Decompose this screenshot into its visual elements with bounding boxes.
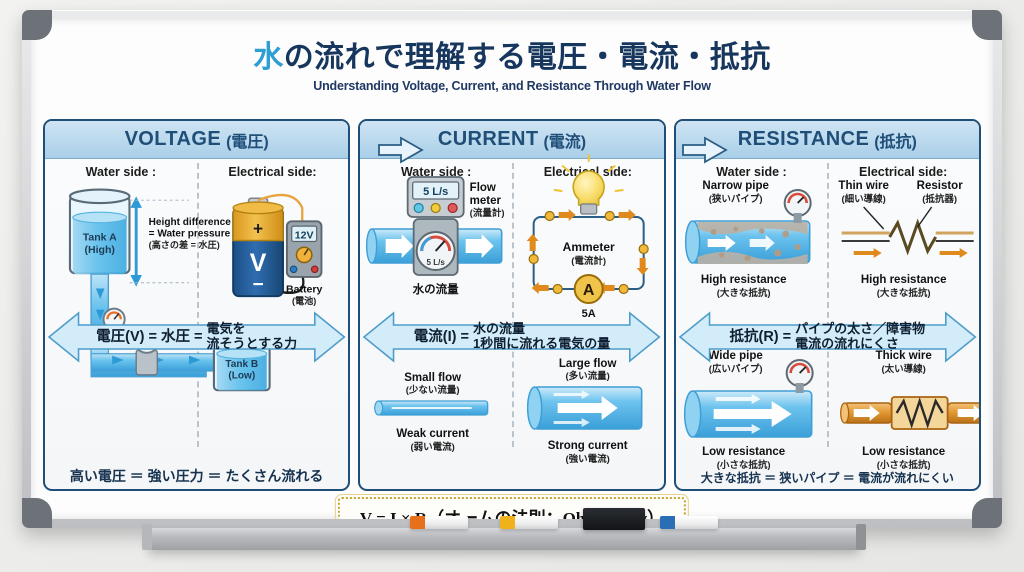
thick-wire-resistor xyxy=(840,397,981,429)
svg-text:meter: meter xyxy=(470,195,502,207)
yellow-marker[interactable] xyxy=(500,516,558,529)
svg-text:(電池): (電池) xyxy=(292,295,316,306)
voltage-eq-line1: 電圧(V) = 水圧 = xyxy=(96,329,202,345)
circuit: Ammeter (電流計) A 5A xyxy=(527,155,649,320)
svg-text:+: + xyxy=(253,219,263,239)
current-equation-text: 電流(I) = 水の流量 1秒間に流れる電気の量 xyxy=(414,322,610,352)
current-eq-line1: 電流(I) = xyxy=(414,329,469,345)
svg-text:Small flow: Small flow xyxy=(405,372,462,384)
svg-text:Ammeter: Ammeter xyxy=(563,240,615,254)
resistance-summary: 大きな抵抗 ＝ 狭いパイプ ＝ 電流が流れにくい xyxy=(676,469,979,486)
svg-text:(高さの差 = 水圧): (高さの差 = 水圧) xyxy=(149,239,220,250)
current-eq-line2a: 水の流量 xyxy=(473,322,610,337)
svg-text:Weak current: Weak current xyxy=(397,428,470,440)
svg-text:(多い流量): (多い流量) xyxy=(566,370,610,382)
frame-corner-bottom-right xyxy=(972,498,1002,528)
svg-text:(大きな抵抗): (大きな抵抗) xyxy=(716,287,770,299)
panel-resistance-title-en: RESISTANCE xyxy=(738,128,869,151)
whiteboard-surface: 水の流れで理解する電圧・電流・抵抗 Understanding Voltage,… xyxy=(31,19,993,519)
svg-text:Flow: Flow xyxy=(470,182,496,194)
page-title-accent: 水 xyxy=(253,41,284,74)
current-equation-band: 電流(I) = 水の流量 1秒間に流れる電気の量 xyxy=(364,309,659,365)
panel-current: CURRENT (電流) Water side : Electrical sid… xyxy=(358,119,665,491)
svg-text:Narrow pipe: Narrow pipe xyxy=(702,180,768,192)
svg-text:(細い導線): (細い導線) xyxy=(841,193,885,205)
svg-text:5 L/s: 5 L/s xyxy=(427,258,446,267)
battery: + V − xyxy=(233,198,283,296)
svg-text:水の流量: 水の流量 xyxy=(413,282,459,296)
svg-text:High resistance: High resistance xyxy=(700,274,786,286)
voltage-eq-line2a: 電気を xyxy=(207,322,298,337)
resistance-equation-text: 抵抗(R) = パイプの太さ／障害物 電流の流れにくさ xyxy=(729,322,925,352)
resistance-equation-band: 抵抗(R) = パイプの太さ／障害物 電流の流れにくさ xyxy=(680,309,975,365)
voltage-summary: 高い電圧 ＝ 強い圧力 ＝ たくさん流れる xyxy=(45,466,348,486)
svg-text:= Water pressure: = Water pressure xyxy=(149,229,231,240)
panel-voltage-header: VOLTAGE (電圧) xyxy=(45,121,348,159)
panel-voltage: VOLTAGE (電圧) Water side : Electrical sid… xyxy=(43,119,350,491)
svg-text:V: V xyxy=(250,249,267,277)
page-subtitle: Understanding Voltage, Current, and Resi… xyxy=(31,79,993,93)
svg-text:(強い電流): (強い電流) xyxy=(566,453,610,465)
svg-text:(少ない流量): (少ない流量) xyxy=(406,384,460,396)
svg-text:Height difference: Height difference xyxy=(149,217,232,228)
resistance-eq-line1: 抵抗(R) = xyxy=(729,329,791,345)
blue-marker[interactable] xyxy=(660,516,718,529)
panel-voltage-body: Water side : Electrical side: xyxy=(45,159,348,489)
svg-text:A: A xyxy=(583,282,595,299)
svg-text:(抵抗器): (抵抗器) xyxy=(922,193,957,205)
frame-corner-top-right xyxy=(972,10,1002,40)
svg-text:(Low): (Low) xyxy=(228,371,255,382)
svg-text:Battery: Battery xyxy=(286,283,322,295)
panel-current-title-en: CURRENT xyxy=(438,128,539,151)
svg-text:Low resistance: Low resistance xyxy=(862,446,945,458)
panel-current-body: Water side : Electrical side: xyxy=(360,159,663,489)
svg-text:5 L/s: 5 L/s xyxy=(423,186,448,198)
flow-arrow-current-to-resistance xyxy=(683,137,727,163)
resistance-eq-line2a: パイプの太さ／障害物 xyxy=(795,322,925,337)
svg-text:Tank A: Tank A xyxy=(83,231,117,243)
voltage-equation-band: 電圧(V) = 水圧 = 電気を 流そうとする力 xyxy=(49,309,344,365)
frame-corner-bottom-left xyxy=(22,498,52,528)
panel-voltage-title-jp: (電圧) xyxy=(226,128,269,152)
current-eq-line2b: 1秒間に流れる電気の量 xyxy=(473,337,610,352)
marker-tray xyxy=(148,528,860,550)
voltage-equation-text: 電圧(V) = 水圧 = 電気を 流そうとする力 xyxy=(96,322,297,352)
svg-text:(High): (High) xyxy=(84,244,114,256)
page-title-rest: の流れで理解する電圧・電流・抵抗 xyxy=(284,41,771,74)
svg-text:(流量計): (流量計) xyxy=(470,207,505,219)
svg-text:Resistor: Resistor xyxy=(916,180,963,192)
flow-arrow-voltage-to-current xyxy=(379,137,423,163)
panel-resistance: RESISTANCE (抵抗) Water side : Electrical … xyxy=(674,119,981,491)
whiteboard-eraser[interactable] xyxy=(583,508,645,530)
page-title: 水の流れで理解する電圧・電流・抵抗 xyxy=(31,41,993,74)
panel-voltage-title-en: VOLTAGE xyxy=(125,128,222,151)
orange-marker-cap xyxy=(410,516,425,529)
panel-resistance-title-jp: (抵抗) xyxy=(874,128,917,152)
svg-text:(弱い電流): (弱い電流) xyxy=(411,441,455,453)
large-flow-pipe xyxy=(528,387,642,429)
svg-text:(狭いパイプ): (狭いパイプ) xyxy=(708,193,762,205)
svg-text:12V: 12V xyxy=(295,230,314,242)
resistance-eq-line2b: 電流の流れにくさ xyxy=(795,337,925,352)
svg-text:Strong current: Strong current xyxy=(548,440,628,452)
voltage-eq-line2b: 流そうとする力 xyxy=(207,337,298,352)
yellow-marker-cap xyxy=(500,516,515,529)
thin-wire-resistor xyxy=(841,207,973,258)
svg-text:Thin wire: Thin wire xyxy=(838,180,888,192)
svg-text:−: − xyxy=(252,274,263,295)
concept-panels: VOLTAGE (電圧) Water side : Electrical sid… xyxy=(43,119,981,491)
svg-text:(電流計): (電流計) xyxy=(572,255,607,267)
orange-marker[interactable] xyxy=(410,516,468,529)
title-block: 水の流れで理解する電圧・電流・抵抗 Understanding Voltage,… xyxy=(31,19,993,93)
tank-a: Tank A (High) xyxy=(70,190,130,274)
svg-text:(大きな抵抗): (大きな抵抗) xyxy=(876,287,930,299)
light-bulb xyxy=(555,155,623,214)
panel-resistance-body: Water side : Electrical side: xyxy=(676,159,979,489)
svg-text:High resistance: High resistance xyxy=(860,274,946,286)
small-flow-pipe xyxy=(375,401,488,415)
blue-marker-cap xyxy=(660,516,675,529)
panel-current-title-jp: (電流) xyxy=(543,128,586,152)
svg-text:Low resistance: Low resistance xyxy=(702,446,785,458)
whiteboard-frame: 水の流れで理解する電圧・電流・抵抗 Understanding Voltage,… xyxy=(22,10,1002,528)
